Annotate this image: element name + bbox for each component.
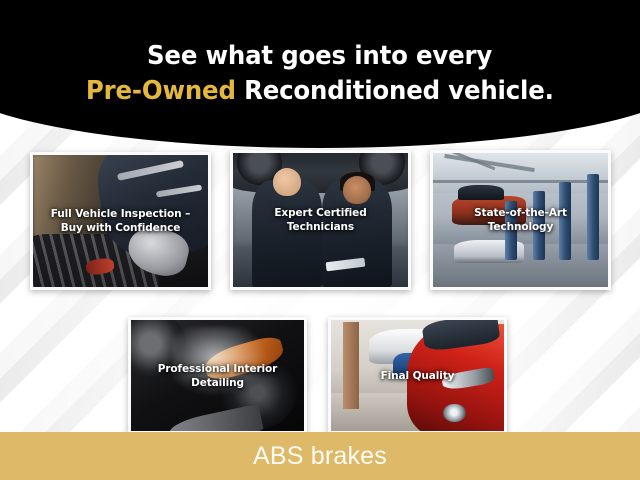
showroom-pillar [343, 322, 359, 409]
caption-bar: ABS brakes [0, 432, 640, 480]
card-expert-certified-technicians[interactable]: Expert Certified Technicians [230, 150, 411, 290]
technician-male-head [273, 168, 301, 196]
caption-text: ABS brakes [253, 442, 387, 471]
headline-highlight: Pre-Owned [86, 76, 236, 106]
promo-graphic: See what goes into every Pre-Owned Recon… [0, 0, 640, 480]
card-professional-interior-detailing[interactable]: Professional Interior Detailing [128, 317, 307, 434]
card-label-technology: State-of-the-Art Technology [433, 206, 608, 234]
technician-female-head [343, 176, 371, 204]
card-label-technicians: Expert Certified Technicians [233, 206, 408, 234]
header-text-block: See what goes into every Pre-Owned Recon… [0, 0, 640, 148]
card-label-detailing: Professional Interior Detailing [131, 361, 304, 389]
headline-line-2: Pre-Owned Reconditioned vehicle. [86, 75, 554, 108]
steam-hose [167, 404, 264, 431]
card-full-vehicle-inspection[interactable]: Full Vehicle Inspection – Buy with Confi… [30, 152, 211, 290]
ceiling-beam-3 [433, 180, 608, 183]
card-state-of-the-art-technology[interactable]: State-of-the-Art Technology [430, 150, 611, 290]
headline-line-1: See what goes into every [147, 40, 492, 73]
red-car-foglight [443, 404, 465, 422]
card-label-inspection: Full Vehicle Inspection – Buy with Confi… [33, 207, 208, 235]
card-label-quality: Final Quality [331, 368, 504, 382]
header-banner: See what goes into every Pre-Owned Recon… [0, 0, 640, 148]
headline-rest: Reconditioned vehicle. [236, 76, 554, 106]
card-final-quality[interactable]: Final Quality [328, 317, 507, 434]
